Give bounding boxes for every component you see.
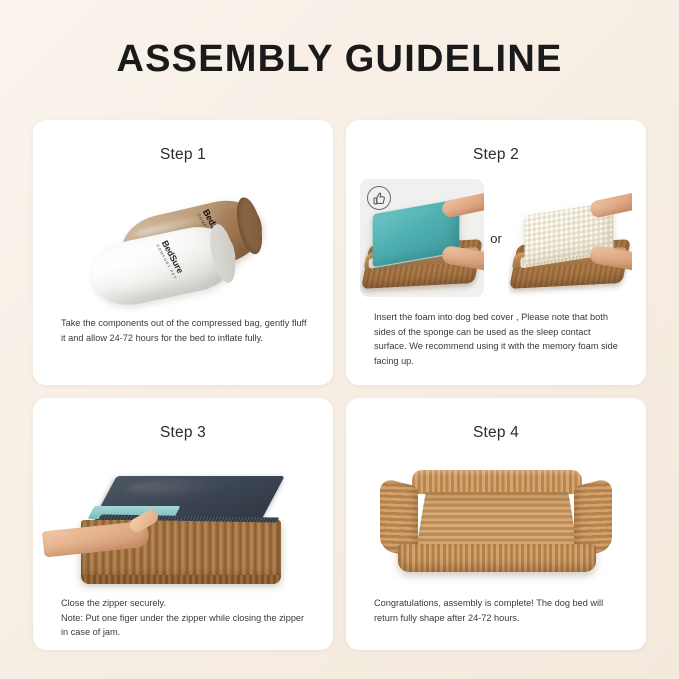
steps-grid: Step 1 BedSure COMFORT PET BedSure COMFO…	[33, 120, 646, 650]
teal-foam-side-panel	[360, 179, 484, 297]
step-2-label: Step 2	[346, 120, 646, 164]
thumbs-up-icon	[367, 186, 391, 210]
cover-highlight	[124, 481, 223, 494]
step-2-caption: Insert the foam into dog bed cover , Ple…	[374, 310, 624, 368]
step-1-label: Step 1	[33, 120, 333, 164]
finished-dog-bed-illustration	[346, 458, 646, 598]
hand-upper	[589, 192, 632, 219]
foam-orientation-illustration: or	[360, 177, 632, 299]
step-1-caption: Take the components out of the compresse…	[61, 316, 311, 345]
step-card-1: Step 1 BedSure COMFORT PET BedSure COMFO…	[33, 120, 333, 385]
step-3-label: Step 3	[33, 398, 333, 442]
or-separator: or	[490, 231, 502, 246]
step-card-2: Step 2 or	[346, 120, 646, 385]
step-4-label: Step 4	[346, 398, 646, 442]
compressed-bags-illustration: BedSure COMFORT PET BedSure COMFORT PET	[33, 178, 333, 313]
hand-upper	[441, 192, 484, 219]
assembly-guideline-page: ASSEMBLY GUIDELINE Step 1 BedSure COMFOR…	[0, 0, 679, 679]
step-4-caption: Congratulations, assembly is complete! T…	[374, 596, 624, 625]
step-card-4: Step 4 Congratulations, assembly is comp…	[346, 398, 646, 650]
white-compressed-roll: BedSure COMFORT PET	[86, 220, 241, 313]
step-card-3: Step 3 Close the zipper securely. Note: …	[33, 398, 333, 650]
memory-foam-side-panel	[508, 179, 632, 297]
roll-highlight	[105, 236, 195, 265]
step-3-caption: Close the zipper securely. Note: Put one…	[61, 596, 311, 640]
bed-back-bolster	[412, 470, 582, 494]
bed-sleeping-surface	[416, 492, 578, 550]
bed-front-edge	[398, 544, 596, 572]
bed-body-bottom	[81, 575, 281, 584]
page-title: ASSEMBLY GUIDELINE	[0, 38, 679, 81]
zipper-closing-illustration	[33, 462, 333, 602]
